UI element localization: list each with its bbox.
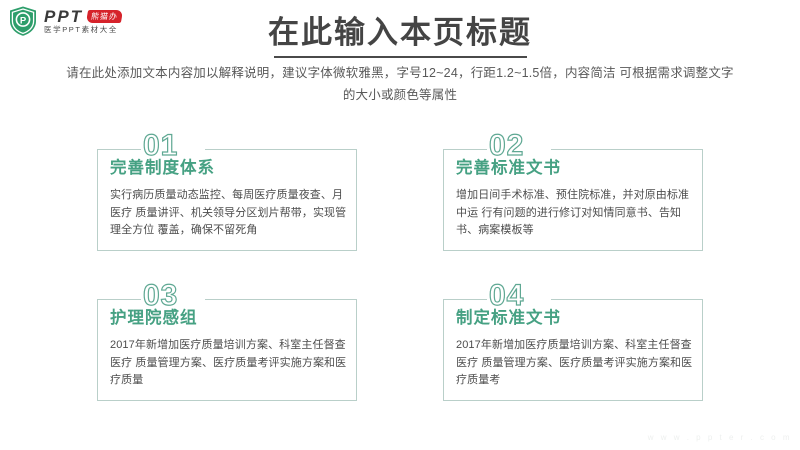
card-text: 实行病历质量动态监控、每周医疗质量夜查、月医疗 质量讲评、机关领导分区划片帮带，…: [110, 187, 348, 240]
content-card[interactable]: 04 制定标准文书 2017年新增加医疗质量培训方案、科室主任督查医疗 质量管理…: [443, 281, 703, 401]
page-subtitle: 请在此处添加文本内容加以解释说明，建议字体微软雅黑，字号12~24，行距1.2~…: [60, 63, 740, 107]
card-body: 完善制度体系 实行病历质量动态监控、每周医疗质量夜查、月医疗 质量讲评、机关领导…: [110, 159, 348, 240]
content-card-grid: 01 完善制度体系 实行病历质量动态监控、每周医疗质量夜查、月医疗 质量讲评、机…: [97, 131, 703, 401]
content-card[interactable]: 02 完善标准文书 增加日间手术标准、预住院标准，并对原由标准中运 行有问题的进…: [443, 131, 703, 251]
card-body: 护理院感组 2017年新增加医疗质量培训方案、科室主任督查医疗 质量管理方案、医…: [110, 309, 348, 390]
card-text: 2017年新增加医疗质量培训方案、科室主任督查医疗 质量管理方案、医疗质量考评实…: [110, 337, 348, 390]
card-heading: 完善标准文书: [456, 159, 694, 179]
content-card[interactable]: 03 护理院感组 2017年新增加医疗质量培训方案、科室主任督查医疗 质量管理方…: [97, 281, 357, 401]
card-body: 制定标准文书 2017年新增加医疗质量培训方案、科室主任督查医疗 质量管理方案、…: [456, 309, 694, 390]
card-text: 增加日间手术标准、预住院标准，并对原由标准中运 行有问题的进行修订对知情同意书、…: [456, 187, 694, 240]
card-number: 01: [143, 131, 178, 161]
card-text: 2017年新增加医疗质量培训方案、科室主任督查医疗 质量管理方案、医疗质量考评实…: [456, 337, 694, 390]
card-heading: 完善制度体系: [110, 159, 348, 179]
card-heading: 护理院感组: [110, 309, 348, 329]
title-underline: [274, 56, 527, 58]
card-body: 完善标准文书 增加日间手术标准、预住院标准，并对原由标准中运 行有问题的进行修订…: [456, 159, 694, 240]
site-watermark: w w w . p p t e r . c o m: [648, 433, 792, 442]
page-title: 在此输入本页标题: [0, 14, 800, 53]
card-number: 04: [489, 281, 524, 311]
content-card[interactable]: 01 完善制度体系 实行病历质量动态监控、每周医疗质量夜查、月医疗 质量讲评、机…: [97, 131, 357, 251]
card-heading: 制定标准文书: [456, 309, 694, 329]
card-number: 03: [143, 281, 178, 311]
card-number: 02: [489, 131, 524, 161]
